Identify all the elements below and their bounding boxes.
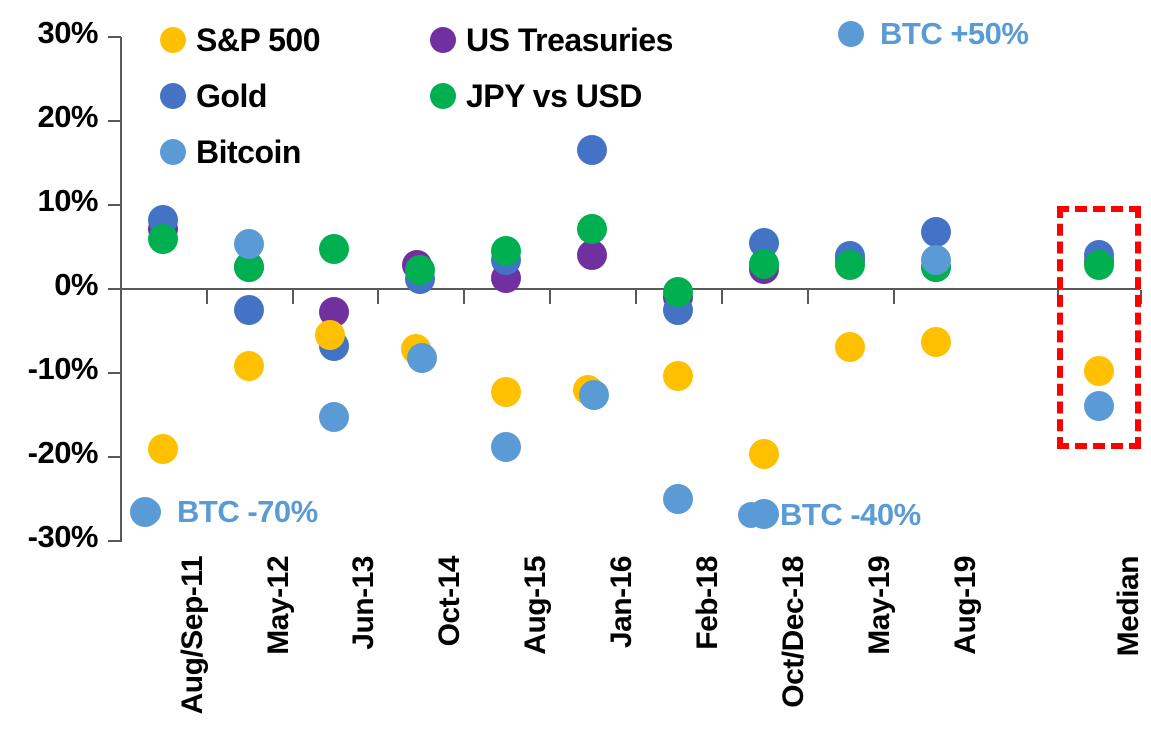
y-axis-tick-label: 0% — [54, 267, 98, 303]
data-point — [148, 224, 178, 254]
x-axis-tick-label: Aug-15 — [519, 556, 553, 655]
data-point — [663, 484, 693, 514]
data-point — [148, 434, 178, 464]
data-point — [577, 240, 607, 270]
callout-label: BTC -70% — [177, 494, 318, 530]
y-axis-tick — [108, 540, 121, 542]
legend-swatch-icon — [430, 27, 456, 53]
data-point — [405, 255, 435, 285]
legend-label: Bitcoin — [196, 134, 301, 171]
x-axis-tick-label: Aug/Sep-11 — [176, 556, 210, 714]
data-point — [579, 380, 609, 410]
x-axis-tick-label: Oct/Dec-18 — [777, 556, 811, 708]
data-point — [491, 236, 521, 266]
x-axis-tick-label: May-12 — [262, 556, 296, 655]
y-axis-tick — [108, 456, 121, 458]
data-point — [407, 343, 437, 373]
x-axis-tick-label: Feb-18 — [691, 556, 725, 650]
median-highlight-box — [1057, 206, 1141, 449]
legend-item-us-treasuries[interactable]: US Treasuries — [430, 12, 673, 68]
x-axis-tick — [463, 290, 465, 304]
data-point — [577, 214, 607, 244]
data-point — [663, 361, 693, 391]
x-axis-tick-label: Jun-13 — [347, 556, 381, 650]
x-axis-tick — [893, 290, 895, 304]
data-point — [577, 135, 607, 165]
bitcoin-dot-icon — [738, 502, 764, 528]
x-axis-tick — [549, 290, 551, 304]
data-point — [749, 249, 779, 279]
y-axis-tick — [108, 288, 121, 290]
legend-swatch-icon — [160, 139, 186, 165]
data-point — [835, 250, 865, 280]
x-axis-tick-label: Aug-19 — [949, 556, 983, 655]
bitcoin-dot-icon — [838, 21, 864, 47]
x-axis-tick — [292, 290, 294, 304]
x-axis-tick — [206, 290, 208, 304]
legend-item-s-p-500[interactable]: S&P 500 — [160, 12, 320, 68]
x-axis-tick-label: Oct-14 — [433, 556, 467, 646]
x-axis-tick — [807, 290, 809, 304]
callout-btc-plus-50: BTC +50% — [838, 16, 1028, 52]
legend-swatch-icon — [160, 27, 186, 53]
y-axis-tick — [108, 372, 121, 374]
x-axis-tick-label: Median — [1112, 556, 1146, 656]
data-point — [491, 432, 521, 462]
legend-label: US Treasuries — [466, 22, 673, 59]
data-point — [663, 277, 693, 307]
data-point — [319, 402, 349, 432]
callout-label: BTC -40% — [780, 497, 921, 533]
legend-swatch-icon — [160, 83, 186, 109]
data-point — [491, 377, 521, 407]
legend-label: JPY vs USD — [466, 78, 642, 115]
x-axis-tick-label: Jan-16 — [605, 556, 639, 648]
data-point — [921, 217, 951, 247]
legend-item-jpy-vs-usd[interactable]: JPY vs USD — [430, 68, 673, 124]
legend-label: S&P 500 — [196, 22, 320, 59]
data-point — [234, 351, 264, 381]
x-axis-tick — [721, 290, 723, 304]
data-point — [234, 295, 264, 325]
data-point — [234, 229, 264, 259]
data-point — [319, 234, 349, 264]
data-point — [749, 439, 779, 469]
data-point — [315, 320, 345, 350]
data-point — [921, 327, 951, 357]
y-axis-tick — [108, 120, 121, 122]
x-axis-tick — [377, 290, 379, 304]
y-axis-tick — [108, 204, 121, 206]
callout-btc-minus-70: BTC -70% — [135, 494, 318, 530]
callout-label: BTC +50% — [880, 16, 1028, 52]
y-axis-tick-label: -20% — [28, 435, 98, 471]
data-point — [835, 332, 865, 362]
legend-item-bitcoin[interactable]: Bitcoin — [160, 124, 320, 180]
bitcoin-dot-icon — [135, 499, 161, 525]
legend-column-2: US TreasuriesJPY vs USD — [430, 12, 673, 124]
legend-label: Gold — [196, 78, 267, 115]
y-axis-tick-label: 10% — [37, 183, 98, 219]
legend-swatch-icon — [430, 83, 456, 109]
scatter-chart: 30%20%10%0%-10%-20%-30% Aug/Sep-11May-12… — [0, 0, 1151, 739]
zero-baseline — [120, 288, 1140, 290]
y-axis-tick — [108, 36, 121, 38]
x-axis-tick-label: May-19 — [863, 556, 897, 655]
y-axis-tick-label: 20% — [37, 99, 98, 135]
y-axis-tick-label: -30% — [28, 519, 98, 555]
legend-column-1: S&P 500GoldBitcoin — [160, 12, 320, 180]
callout-btc-minus-40: BTC -40% — [738, 497, 921, 533]
legend-item-gold[interactable]: Gold — [160, 68, 320, 124]
y-axis-tick-label: -10% — [28, 351, 98, 387]
y-axis-tick-label: 30% — [37, 15, 98, 51]
x-axis-tick — [635, 290, 637, 304]
